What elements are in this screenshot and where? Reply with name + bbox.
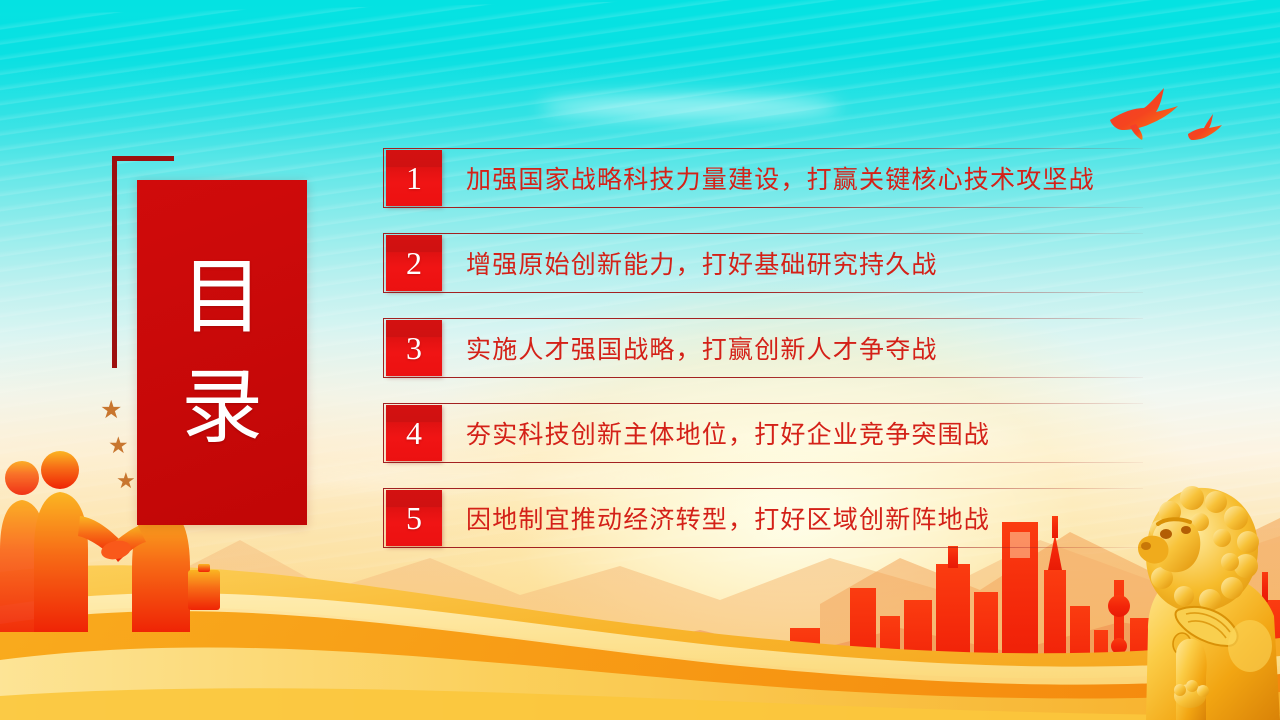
toc-item-label-4: 夯实科技创新主体地位，打好企业竞争突围战 <box>466 415 990 451</box>
star-icon-1: ★ <box>100 398 122 423</box>
toc-item-3[interactable]: 3 实施人才强国战略，打赢创新人才争夺战 <box>383 318 1143 378</box>
toc-item-label-5: 因地制宜推动经济转型，打好区域创新阵地战 <box>466 500 990 536</box>
star-decoration-group: ★ ★ ★ <box>100 398 144 506</box>
table-of-contents-list: 1 加强国家战略科技力量建设，打赢关键核心技术攻坚战 2 增强原始创新能力，打好… <box>383 148 1143 548</box>
flying-birds-icon <box>1092 86 1232 152</box>
title-char-lu: 录 <box>181 366 263 450</box>
toc-item-label-2: 增强原始创新能力，打好基础研究持久战 <box>466 245 938 281</box>
slide-canvas: 目 录 ★ ★ ★ 1 加强国家战略科技力量建设，打赢关键核心技术攻坚战 2 增… <box>0 0 1280 720</box>
toc-number-badge-2: 2 <box>386 235 442 291</box>
toc-item-1[interactable]: 1 加强国家战略科技力量建设，打赢关键核心技术攻坚战 <box>383 148 1143 208</box>
toc-number-badge-5: 5 <box>386 490 442 546</box>
toc-item-2[interactable]: 2 增强原始创新能力，打好基础研究持久战 <box>383 233 1143 293</box>
toc-item-label-3: 实施人才强国战略，打赢创新人才争夺战 <box>466 330 938 366</box>
toc-item-4[interactable]: 4 夯实科技创新主体地位，打好企业竞争突围战 <box>383 403 1143 463</box>
title-char-mu: 目 <box>181 256 263 340</box>
toc-item-label-1: 加强国家战略科技力量建设，打赢关键核心技术攻坚战 <box>466 160 1095 196</box>
star-icon-2: ★ <box>108 434 129 457</box>
toc-item-5[interactable]: 5 因地制宜推动经济转型，打好区域创新阵地战 <box>383 488 1143 548</box>
table-of-contents-title-panel: 目 录 <box>137 180 307 525</box>
toc-number-badge-1: 1 <box>386 150 442 206</box>
star-icon-3: ★ <box>116 470 136 492</box>
toc-number-badge-4: 4 <box>386 405 442 461</box>
cloud-wisp-1 <box>540 96 840 118</box>
toc-number-badge-3: 3 <box>386 320 442 376</box>
